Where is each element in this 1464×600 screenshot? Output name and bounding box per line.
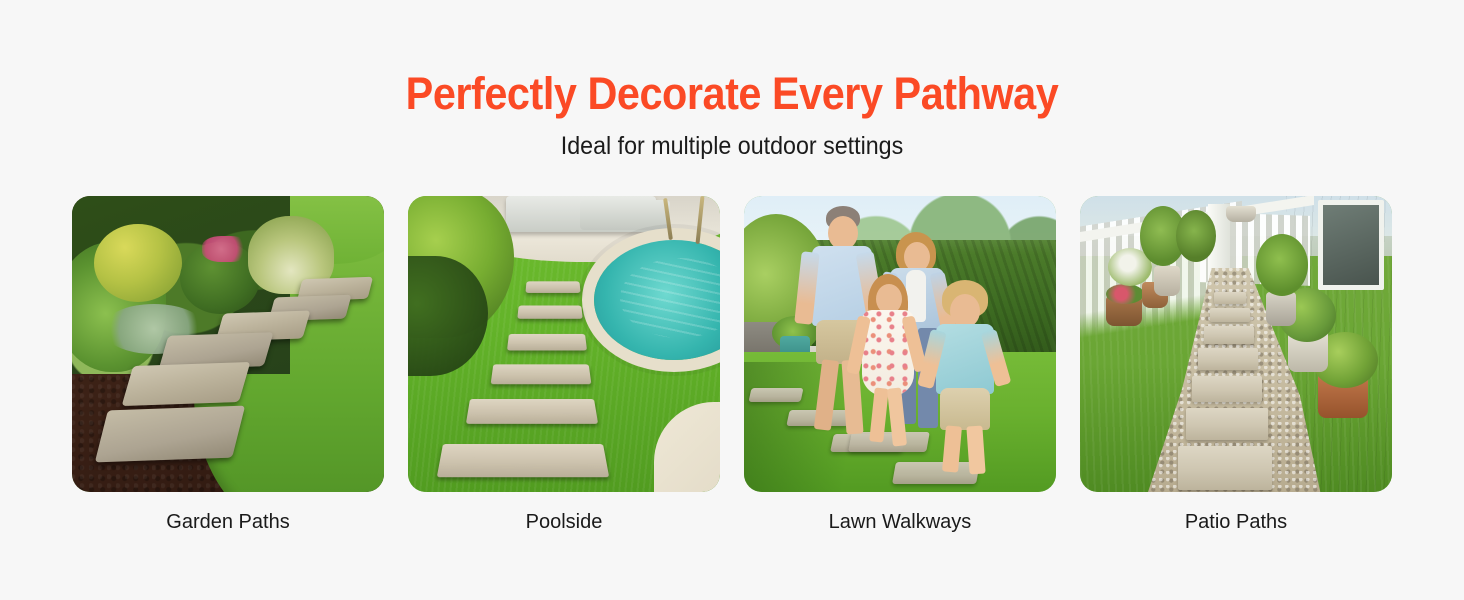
head bbox=[828, 216, 858, 250]
head bbox=[950, 294, 980, 328]
stone-slab bbox=[1192, 376, 1262, 402]
page-subtitle: Ideal for multiple outdoor settings bbox=[51, 130, 1413, 162]
feature-card-poolside[interactable]: Poolside bbox=[408, 196, 720, 535]
stone-slab bbox=[1214, 292, 1246, 304]
feature-card-grid: Garden Paths bbox=[72, 196, 1392, 535]
stone-paver bbox=[525, 281, 580, 293]
pink-flowers bbox=[202, 236, 250, 262]
tall-shrub bbox=[1176, 210, 1216, 262]
stone-urn bbox=[1154, 266, 1180, 296]
leg bbox=[869, 387, 889, 442]
leg bbox=[814, 359, 839, 431]
stepping-stone bbox=[749, 388, 804, 402]
garden-paths-image bbox=[72, 196, 384, 492]
stone-pot bbox=[1266, 292, 1296, 326]
person-girl bbox=[854, 274, 930, 444]
feature-card-patio-paths[interactable]: Patio Paths bbox=[1080, 196, 1392, 535]
stone-paver bbox=[517, 306, 582, 319]
stone-paver bbox=[437, 444, 609, 477]
urn-planter bbox=[1226, 206, 1256, 222]
stone-paver bbox=[491, 364, 592, 384]
stone-slab bbox=[1186, 408, 1268, 440]
lawn-walkways-image bbox=[744, 196, 1056, 492]
stepping-stone bbox=[122, 362, 251, 406]
card-label: Garden Paths bbox=[72, 509, 384, 535]
sun-lounger bbox=[580, 200, 670, 230]
shrub bbox=[1256, 234, 1308, 296]
leg bbox=[966, 426, 985, 475]
yellow-shrub bbox=[94, 224, 182, 302]
leg bbox=[887, 387, 907, 446]
stone-slab bbox=[1210, 308, 1250, 322]
leg bbox=[942, 425, 962, 472]
stone-slab bbox=[1198, 348, 1258, 370]
feature-card-lawn-walkways[interactable]: Lawn Walkways bbox=[744, 196, 1056, 535]
page-title: Perfectly Decorate Every Pathway bbox=[59, 66, 1406, 122]
patio-paths-image bbox=[1080, 196, 1392, 492]
promo-banner: Perfectly Decorate Every Pathway Ideal f… bbox=[0, 0, 1464, 600]
feature-card-garden-paths[interactable]: Garden Paths bbox=[72, 196, 384, 535]
stone-paver bbox=[507, 334, 587, 351]
flowering-plant bbox=[1106, 284, 1144, 304]
stepping-stone bbox=[95, 406, 245, 463]
stone-slab bbox=[1178, 446, 1272, 490]
house-window bbox=[1318, 200, 1384, 290]
person-boy bbox=[926, 280, 1012, 472]
stone-slab bbox=[1204, 326, 1254, 344]
shorts bbox=[940, 388, 990, 430]
stone-paver bbox=[466, 399, 598, 424]
poolside-image bbox=[408, 196, 720, 492]
card-label: Lawn Walkways bbox=[744, 509, 1056, 535]
card-label: Patio Paths bbox=[1080, 509, 1392, 535]
card-label: Poolside bbox=[408, 509, 720, 535]
